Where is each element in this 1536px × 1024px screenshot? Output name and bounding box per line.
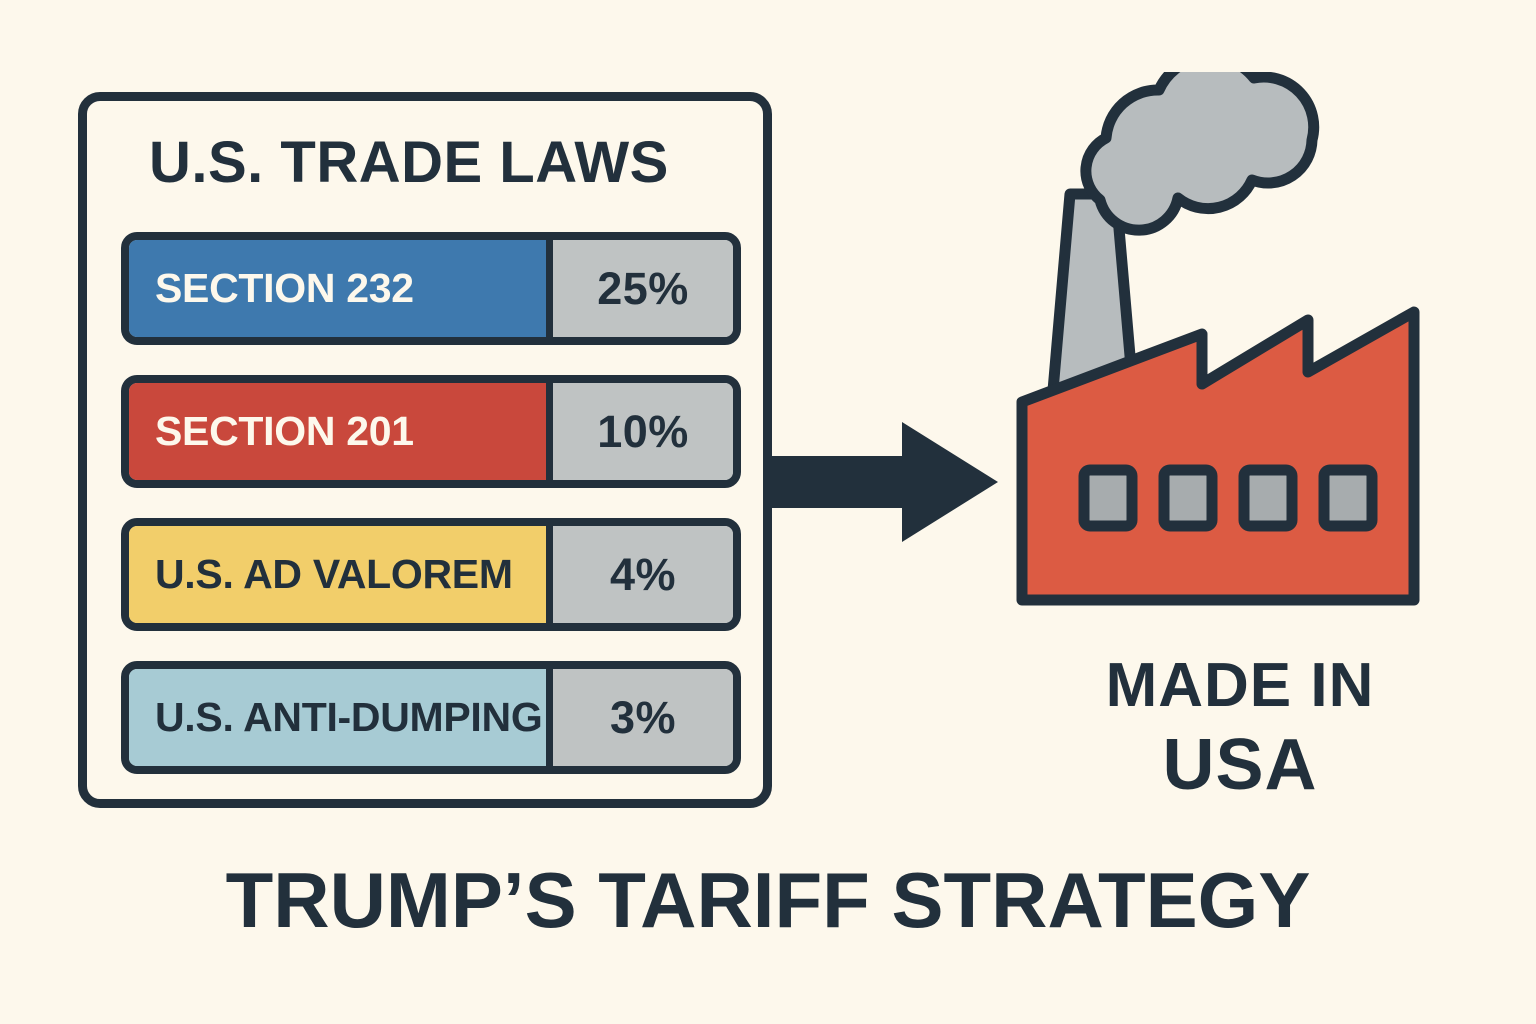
made-in-line-2: USA xyxy=(1012,729,1468,801)
factory-window xyxy=(1164,470,1212,526)
row-value-section-201: 10% xyxy=(553,383,733,480)
row-value-section-232: 25% xyxy=(553,240,733,337)
factory-illustration xyxy=(1012,72,1468,632)
row-label-section-201: SECTION 201 xyxy=(129,383,553,480)
table-row: U.S. AD VALOREM 4% xyxy=(121,518,741,631)
row-label-anti-dumping: U.S. ANTI-DUMPING xyxy=(129,669,553,766)
table-row: SECTION 232 25% xyxy=(121,232,741,345)
right-arrow-icon xyxy=(770,418,1002,546)
row-value-anti-dumping: 3% xyxy=(553,669,733,766)
row-label-section-232: SECTION 232 xyxy=(129,240,553,337)
page-title: TRUMP’S TARIFF STRATEGY xyxy=(0,855,1536,946)
row-value-ad-valorem: 4% xyxy=(553,526,733,623)
factory-window xyxy=(1244,470,1292,526)
smoke-cloud-shape xyxy=(1086,72,1314,230)
factory-window xyxy=(1324,470,1372,526)
made-in-usa-caption: MADE IN USA xyxy=(1012,655,1468,801)
infographic-canvas: U.S. TRADE LAWS SECTION 232 25% SECTION … xyxy=(0,0,1536,1024)
factory-window xyxy=(1084,470,1132,526)
card-title: U.S. TRADE LAWS xyxy=(149,129,669,196)
row-label-ad-valorem: U.S. AD VALOREM xyxy=(129,526,553,623)
table-row: SECTION 201 10% xyxy=(121,375,741,488)
trade-law-row-list: SECTION 232 25% SECTION 201 10% U.S. AD … xyxy=(121,232,741,774)
made-in-line-1: MADE IN xyxy=(1012,655,1468,717)
table-row: U.S. ANTI-DUMPING 3% xyxy=(121,661,741,774)
trade-laws-card: U.S. TRADE LAWS SECTION 232 25% SECTION … xyxy=(78,92,772,808)
